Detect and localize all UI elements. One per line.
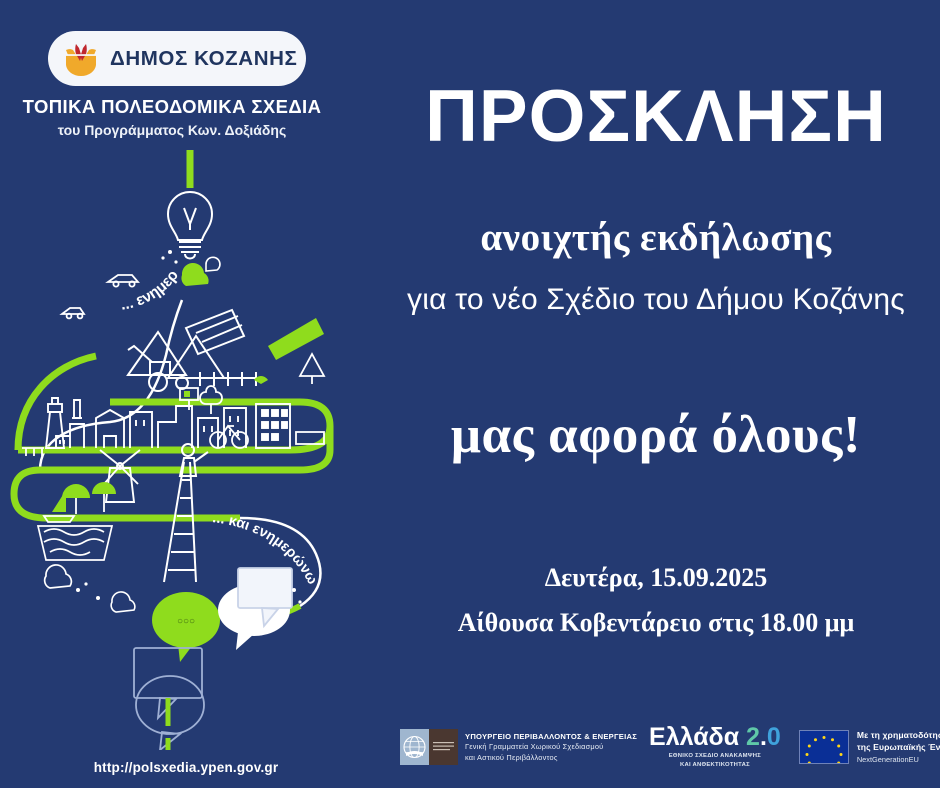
speech-bubble-icon: ○○○ bbox=[152, 592, 220, 662]
municipality-logo-pill: ΔΗΜΟΣ ΚΟΖΑΝΗΣ bbox=[48, 31, 306, 86]
invitation-emphasis: μας αφορά όλους! bbox=[372, 405, 940, 465]
eu-funding-logo: Με τη χρηματοδότηση της Ευρωπαϊκής Ένωση… bbox=[791, 729, 940, 766]
solar-panel-icon bbox=[186, 310, 244, 354]
eu-nextgeneration-label: NextGenerationEU bbox=[857, 754, 940, 765]
eu-funding-line-2: της Ευρωπαϊκής Ένωσης bbox=[857, 741, 940, 753]
funding-logo-strip: ΥΠΟΥΡΓΕΙΟ ΠΕΡΙΒΑΛΛΟΝΤΟΣ & ΕΝΕΡΓΕΙΑΣ Γενι… bbox=[400, 718, 910, 776]
left-column: ΔΗΜΟΣ ΚΟΖΑΝΗΣ ΤΟΠΙΚΑ ΠΟΛΕΟΔΟΜΙΚΑ ΣΧΕΔΙΑ … bbox=[0, 0, 372, 788]
ellada-wordmark: Ελλάδα 2.0 bbox=[649, 725, 781, 750]
cloud-icon bbox=[111, 592, 135, 612]
ypen-subtitle-1: Γενική Γραμματεία Χωρικού Σχεδιασμού bbox=[465, 742, 637, 753]
ladder-worker-icon bbox=[164, 444, 208, 582]
ellada-version-2: 2 bbox=[746, 723, 760, 751]
sparkle-dot bbox=[84, 582, 87, 585]
ellada-version-dot: . bbox=[760, 723, 767, 751]
invitation-subtitle-1: ανοιχτής εκδήλωσης bbox=[372, 215, 940, 260]
journey-illustration: ... ενημερώνομαι ... bbox=[0, 150, 372, 750]
illustration-label-top: ... ενημερώνομαι ... bbox=[0, 150, 182, 314]
sparkle-dot bbox=[168, 250, 172, 254]
sparkle-dot bbox=[298, 600, 301, 603]
cloud-icon bbox=[181, 263, 208, 286]
city-buildings-icon bbox=[56, 400, 246, 448]
water-waves-icon bbox=[38, 526, 112, 560]
sparkle-dot bbox=[76, 588, 80, 592]
sparkle-dot bbox=[292, 588, 296, 592]
municipality-name: ΔΗΜΟΣ ΚΟΖΑΝΗΣ bbox=[110, 47, 297, 71]
invitation-subtitle-2: για το νέο Σχέδιο του Δήμου Κοζάνης bbox=[372, 283, 940, 317]
eu-funding-line-1: Με τη χρηματοδότηση bbox=[857, 729, 940, 741]
story-path-top bbox=[40, 300, 182, 470]
lightbulb-icon bbox=[168, 192, 212, 259]
tree-icon bbox=[300, 354, 324, 384]
sparkle-dot bbox=[96, 596, 100, 600]
ypen-ministry-logo: ΥΠΟΥΡΓΕΙΟ ΠΕΡΙΒΑΛΛΟΝΤΟΣ & ΕΝΕΡΓΕΙΑΣ Γενι… bbox=[400, 729, 637, 765]
bicycle-icon bbox=[210, 426, 248, 448]
right-column: ΠΡΟΣΚΛΗΣΗ ανοιχτής εκδήλωσης για το νέο … bbox=[372, 0, 940, 700]
ypen-subtitle-2: και Αστικού Περιβάλλοντος bbox=[465, 753, 637, 764]
cloud-icon bbox=[45, 565, 72, 588]
windmill-icon bbox=[100, 450, 140, 502]
sparkle-dot bbox=[174, 260, 177, 263]
ellada-version-0: 0 bbox=[767, 723, 781, 751]
ypen-title: ΥΠΟΥΡΓΕΙΟ ΠΕΡΙΒΑΛΛΟΝΤΟΣ & ΕΝΕΡΓΕΙΑΣ bbox=[465, 731, 637, 742]
event-venue: Αίθουσα Κοβεντάρειο στις 18.00 μμ bbox=[372, 608, 940, 638]
excavator-icon bbox=[128, 346, 188, 391]
car-icon bbox=[108, 275, 138, 287]
fence-icon bbox=[196, 372, 262, 386]
ellada-word-text: Ελλάδα bbox=[649, 723, 739, 751]
program-subtitle: του Προγράμματος Κων. Δοξιάδης bbox=[0, 122, 344, 138]
ellada-subtitle-1: ΕΘΝΙΚΟ ΣΧΕΔΙΟ ΑΝΑΚΑΜΨΗΣ bbox=[649, 752, 781, 761]
sparkle-dot bbox=[161, 256, 164, 259]
cloud-icon bbox=[206, 257, 220, 271]
ellada-subtitle-2: ΚΑΙ ΑΝΘΕΚΤΙΚΟΤΗΤΑΣ bbox=[649, 761, 781, 770]
ellada-2-0-logo: Ελλάδα 2.0 ΕΘΝΙΚΟ ΣΧΕΔΙΟ ΑΝΑΚΑΜΨΗΣ ΚΑΙ Α… bbox=[649, 725, 781, 770]
invitation-poster: ΔΗΜΟΣ ΚΟΖΑΝΗΣ ΤΟΠΙΚΑ ΠΟΛΕΟΔΟΜΙΚΑ ΣΧΕΔΙΑ … bbox=[0, 0, 940, 788]
green-panel-icon bbox=[268, 318, 324, 360]
tower-block-icon bbox=[256, 404, 290, 448]
invitation-headline: ΠΡΟΣΚΛΗΣΗ bbox=[372, 80, 940, 153]
ypen-globe-emblem-icon bbox=[400, 729, 458, 765]
beach-umbrella-icon bbox=[62, 482, 116, 514]
event-date: Δευτέρα, 15.09.2025 bbox=[372, 563, 940, 593]
eu-flag-icon bbox=[799, 730, 849, 764]
car-icon bbox=[62, 308, 84, 318]
svg-text:○○○: ○○○ bbox=[177, 616, 195, 627]
sign-badge-icon bbox=[184, 391, 190, 397]
tulip-crocus-icon bbox=[64, 41, 98, 77]
website-url[interactable]: http://polsxedia.ypen.gov.gr bbox=[0, 760, 372, 775]
program-title: ΤΟΠΙΚΑ ΠΟΛΕΟΔΟΜΙΚΑ ΣΧΕΔΙΑ bbox=[0, 96, 344, 118]
